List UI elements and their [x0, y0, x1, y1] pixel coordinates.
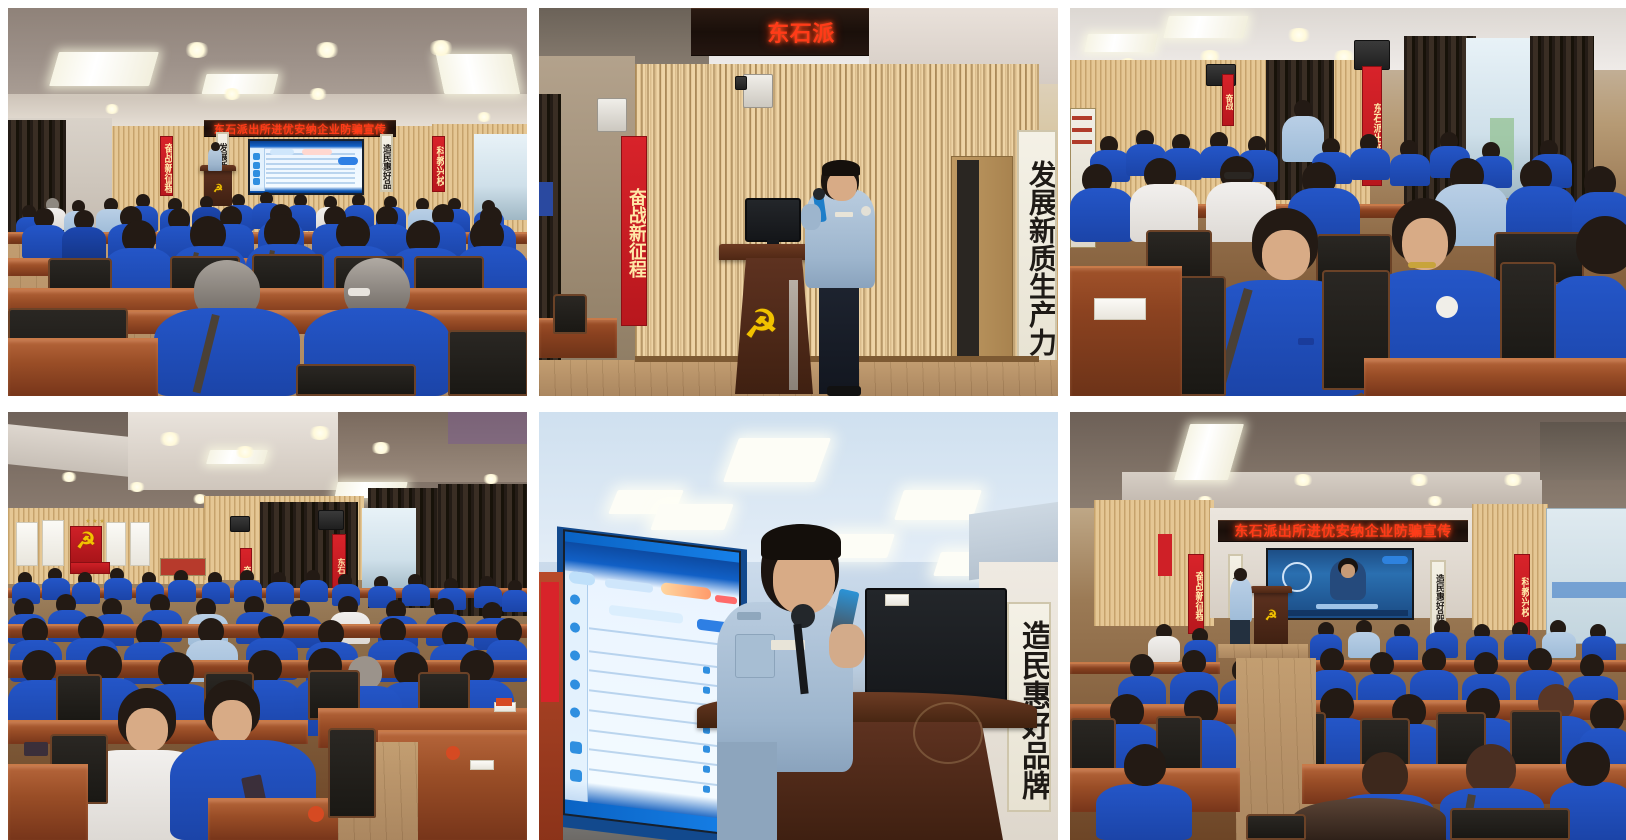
downlight [104, 104, 120, 114]
shoulder-board [737, 612, 761, 620]
scroll-banner-red: 奋战新征程 [160, 136, 173, 196]
shirt-pocket [735, 634, 775, 678]
eyeglasses-icon [1224, 172, 1252, 179]
name-badge [835, 212, 853, 217]
sticker [308, 806, 324, 822]
party-emblem-icon: ☭ [72, 530, 100, 552]
photo-bottom-right[interactable]: 东石派出所进优安纳企业防骗宣传 奋战新征程 发展新质 造民惠好品牌 科教兴校 ☭ [1070, 412, 1626, 840]
device-label [885, 594, 909, 606]
downlight [428, 40, 454, 56]
podium-emblem [913, 702, 983, 764]
downlight [222, 88, 242, 100]
officer-arm [717, 742, 777, 840]
photo-bottom-center[interactable]: 造民惠好品牌 [539, 412, 1058, 840]
downlight [184, 42, 210, 58]
wall-speaker [743, 74, 773, 108]
ceiling-panel-light [650, 504, 733, 530]
presenter [1230, 578, 1252, 622]
party-emblem-icon: ☭ [1262, 608, 1280, 622]
led-banner-text: 东石派出所进优安纳企业防骗宣传 [214, 121, 387, 137]
officer-hand [829, 624, 865, 668]
necklace [1408, 262, 1436, 268]
downlight [314, 42, 340, 58]
paper-sheet [1094, 298, 1146, 320]
promo-banner [661, 583, 711, 601]
scroll-banner-white: 造民惠好品牌 [380, 134, 393, 192]
party-emblem-icon: ☭ [211, 184, 225, 195]
projection-screen [563, 529, 741, 837]
led-banner-text: 东石派出所进优安纳企业防骗宣传 [1234, 521, 1452, 541]
projection-screen [248, 139, 364, 195]
officer-legs [819, 280, 859, 394]
speaker-officer [208, 149, 222, 171]
photo-collage: 东石派出所进优安纳企业防骗宣传 奋战新征程 [0, 0, 1626, 835]
photo-bottom-left[interactable]: ☭ ★ ★ ★ 奋战 东石 [8, 412, 527, 840]
smartphone [24, 742, 48, 756]
projector [230, 516, 250, 532]
podium-monitor [745, 198, 801, 242]
officer-shoes [827, 386, 861, 396]
ceiling-strip-light [49, 52, 159, 86]
camera-icon [735, 76, 747, 90]
shoulder-patch [861, 206, 871, 216]
scroll-banner-white: 发展新质生产力 [1017, 130, 1057, 380]
audience-torso [154, 308, 300, 396]
ceiling-strip-light [436, 54, 521, 94]
downlight [476, 112, 492, 122]
photo-top-left[interactable]: 东石派出所进优安纳企业防骗宣传 奋战新征程 [8, 8, 527, 396]
foreground-head [1292, 798, 1446, 840]
party-emblem-icon: ☭ [741, 306, 781, 344]
scroll-banner-red: 奋战新征程 [621, 136, 647, 326]
led-banner: 东石派出所进优安纳企业防骗宣传 [204, 120, 396, 137]
ceiling-panel-light [723, 438, 831, 482]
scroll-banner-red: 科教兴校 [432, 136, 445, 192]
sticker [446, 746, 460, 760]
photo-top-right[interactable]: 奋战 东石派出所 [1070, 8, 1626, 396]
scroll-banner-red: 奋战新征程 [1188, 554, 1204, 634]
led-banner: 东石派出所进优安纳企业防骗宣传 [1218, 520, 1468, 542]
led-banner-text: 东石派 [767, 16, 835, 48]
photo-top-center[interactable]: 东石派 奋战新征程 发展新质生产力 [539, 8, 1058, 396]
wall-speaker [318, 510, 344, 530]
wall-speaker [597, 98, 627, 132]
downlight [308, 88, 328, 100]
video-screen [1266, 548, 1414, 620]
uniform-logo [1298, 338, 1314, 345]
